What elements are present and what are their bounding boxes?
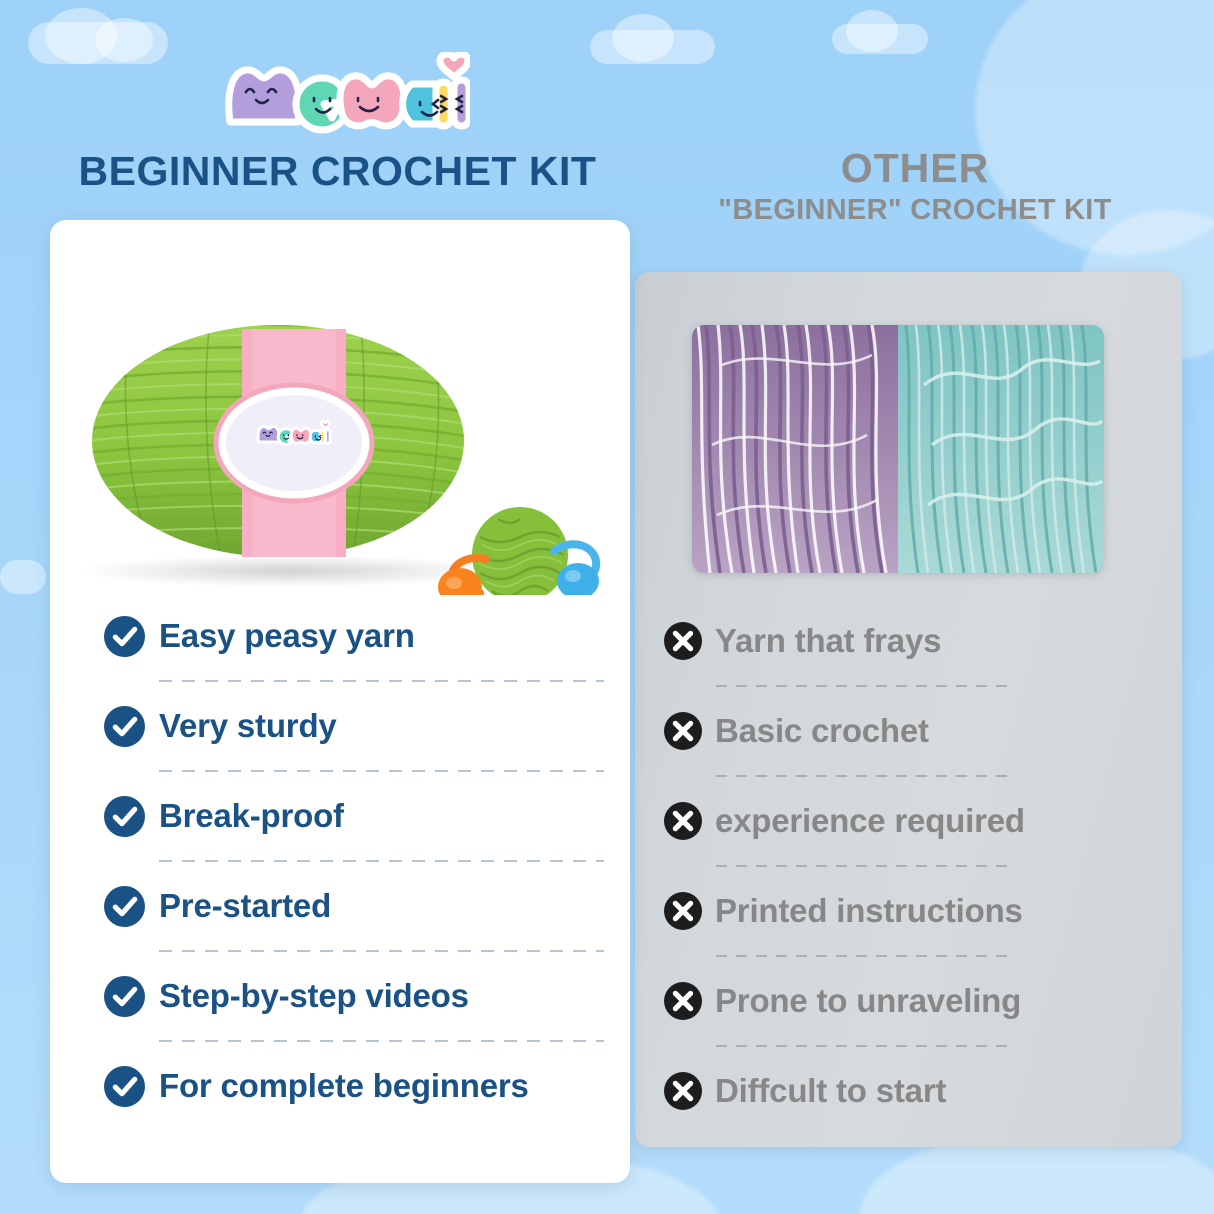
other-feature-list: Yarn that frays Basic crochet experience… bbox=[664, 610, 1134, 1122]
list-divider bbox=[159, 950, 604, 952]
check-icon bbox=[104, 796, 145, 837]
list-divider bbox=[716, 955, 1016, 957]
feature-label: Prone to unraveling bbox=[715, 982, 1021, 1020]
list-item: experience required bbox=[664, 790, 1134, 852]
list-item: Yarn that frays bbox=[664, 610, 1134, 672]
list-item: Break-proof bbox=[104, 785, 604, 847]
list-item: Easy peasy yarn bbox=[104, 605, 604, 667]
feature-label: Yarn that frays bbox=[715, 622, 941, 660]
list-item: Prone to unraveling bbox=[664, 970, 1134, 1032]
list-divider bbox=[716, 865, 1016, 867]
feature-label: Diffcult to start bbox=[715, 1072, 946, 1110]
list-item: Printed instructions bbox=[664, 880, 1134, 942]
mewaii-logo bbox=[222, 52, 470, 136]
list-divider bbox=[716, 1045, 1016, 1047]
check-icon bbox=[104, 886, 145, 927]
list-item: Diffcult to start bbox=[664, 1060, 1134, 1122]
feature-label: experience required bbox=[715, 802, 1025, 840]
feature-label: Basic crochet bbox=[715, 712, 929, 750]
right-column-title: OTHER bbox=[635, 145, 1195, 192]
right-column-heading-group: OTHER "BEGINNER" CROCHET KIT bbox=[635, 145, 1195, 227]
check-icon bbox=[104, 616, 145, 657]
check-icon bbox=[104, 706, 145, 747]
cloud-left-mid bbox=[0, 560, 46, 594]
list-item: Basic crochet bbox=[664, 700, 1134, 762]
feature-label: Step-by-step videos bbox=[159, 977, 469, 1015]
cloud-top-right-puff bbox=[846, 10, 898, 52]
x-icon bbox=[664, 712, 702, 750]
x-icon bbox=[664, 982, 702, 1020]
x-icon bbox=[664, 802, 702, 840]
x-icon bbox=[664, 892, 702, 930]
list-item: Pre-started bbox=[104, 875, 604, 937]
feature-label: Easy peasy yarn bbox=[159, 617, 415, 655]
list-item: For complete beginners bbox=[104, 1055, 604, 1117]
list-item: Very sturdy bbox=[104, 695, 604, 757]
mewaii-feature-list: Easy peasy yarn Very sturdy Break-proof … bbox=[104, 605, 604, 1117]
list-divider bbox=[159, 1040, 604, 1042]
feature-label: Break-proof bbox=[159, 797, 344, 835]
feature-label: Printed instructions bbox=[715, 892, 1023, 930]
list-item: Step-by-step videos bbox=[104, 965, 604, 1027]
left-column-title: BEGINNER CROCHET KIT bbox=[50, 148, 625, 195]
list-divider bbox=[159, 770, 604, 772]
feature-label: For complete beginners bbox=[159, 1067, 529, 1105]
check-icon bbox=[104, 1066, 145, 1107]
cloud-top-left-puff2 bbox=[95, 18, 153, 62]
check-icon bbox=[104, 976, 145, 1017]
feature-label: Pre-started bbox=[159, 887, 331, 925]
feature-label: Very sturdy bbox=[159, 707, 337, 745]
list-divider bbox=[159, 860, 604, 862]
cloud-top-mid-puff bbox=[612, 14, 674, 62]
right-column-subtitle: "BEGINNER" CROCHET KIT bbox=[635, 194, 1195, 227]
list-divider bbox=[716, 685, 1016, 687]
x-icon bbox=[664, 622, 702, 660]
mewaii-yarn-photo bbox=[60, 295, 620, 595]
other-yarn-photo bbox=[692, 325, 1104, 573]
list-divider bbox=[716, 775, 1016, 777]
x-icon bbox=[664, 1072, 702, 1110]
list-divider bbox=[159, 680, 604, 682]
